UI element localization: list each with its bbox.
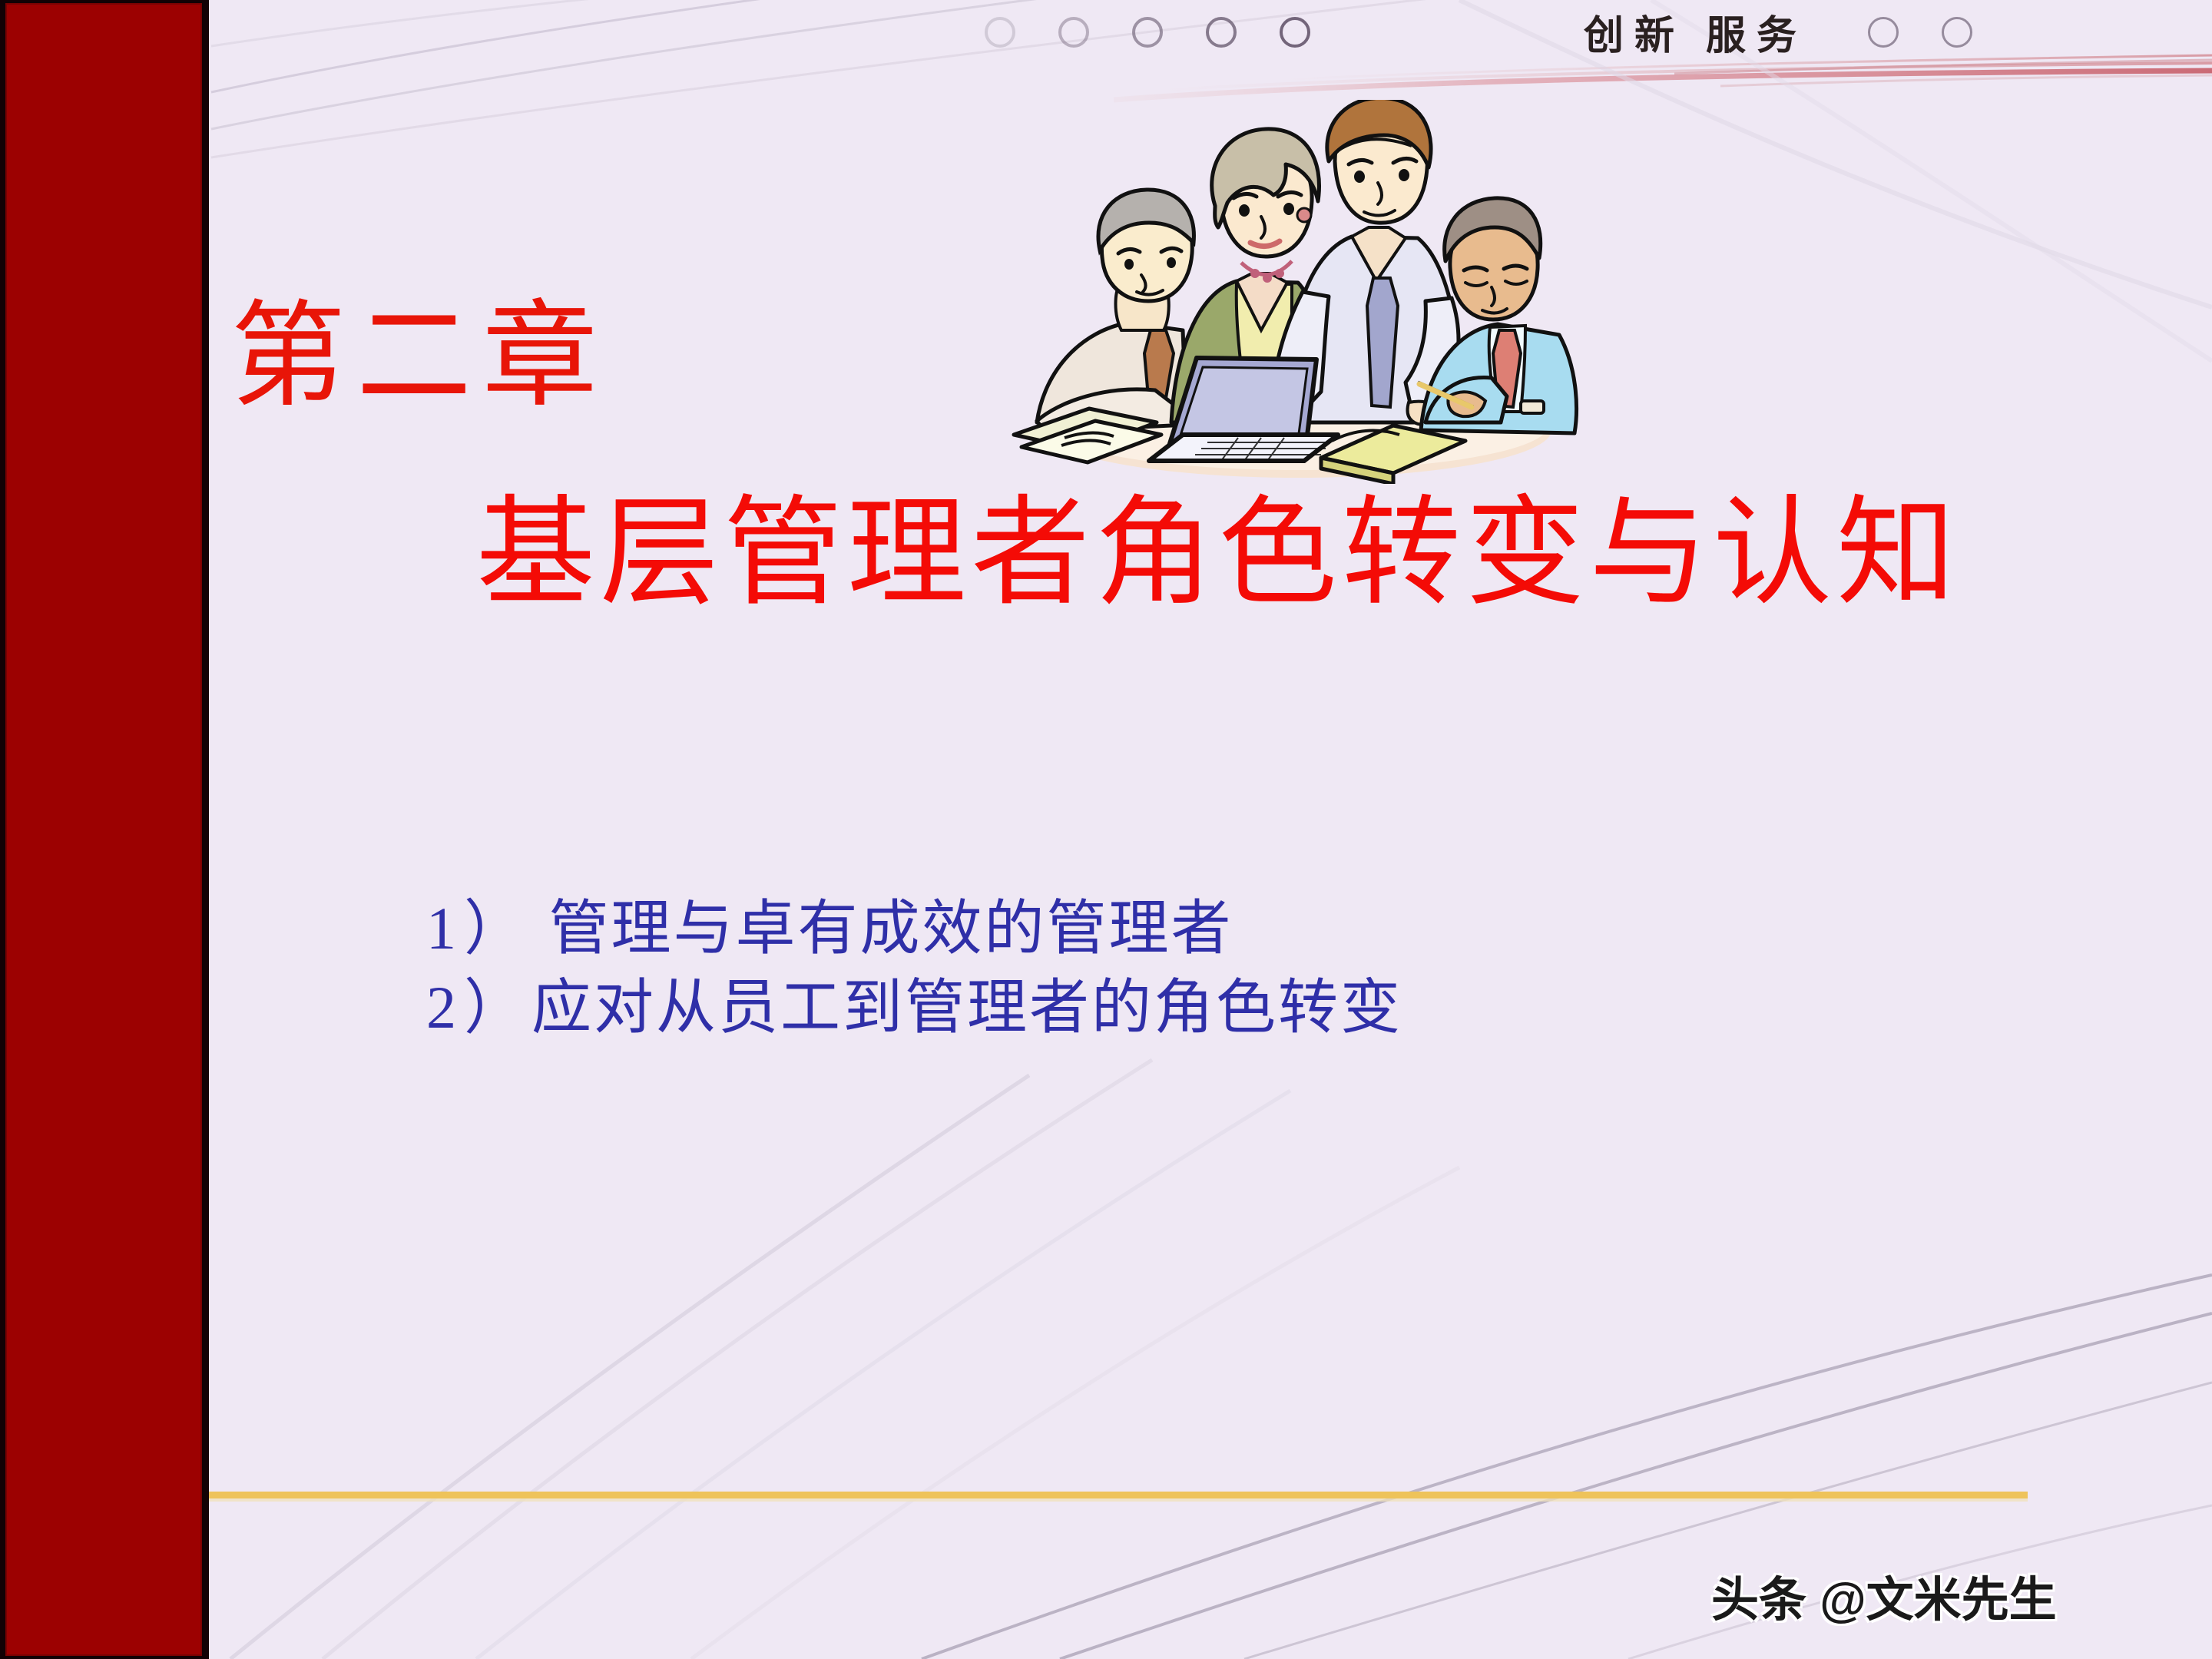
footer-divider bbox=[209, 1492, 2028, 1498]
list-item-label: 应对从员工到管理者的角色转变 bbox=[531, 974, 1402, 1041]
header-slogan: 创新 服务 bbox=[1584, 3, 1807, 61]
footer-divider-shade bbox=[209, 1498, 2028, 1502]
list-item-number: 1） bbox=[426, 895, 531, 962]
slide-title: 基层管理者角色转变与认知 bbox=[476, 492, 1960, 617]
left-accent-bar bbox=[5, 3, 202, 1656]
list-item: 1） 管理与卓有成效的管理者 bbox=[426, 889, 1402, 969]
list-item: 2）应对从员工到管理者的角色转变 bbox=[426, 969, 1402, 1048]
circle-icon bbox=[1280, 17, 1310, 48]
bullet-list: 1） 管理与卓有成效的管理者 2）应对从员工到管理者的角色转变 bbox=[426, 889, 1402, 1048]
header-circle-group-left bbox=[985, 17, 1310, 48]
chapter-label: 第二章 bbox=[230, 300, 608, 415]
watermark: 头条 @文米先生 bbox=[1711, 1561, 2057, 1630]
circle-icon bbox=[985, 17, 1015, 48]
presentation-slide: 创新 服务 bbox=[0, 0, 2212, 1659]
list-item-label: 管理与卓有成效的管理者 bbox=[531, 895, 1233, 962]
circle-icon bbox=[1868, 17, 1899, 48]
circle-icon bbox=[1206, 17, 1237, 48]
circle-icon bbox=[1132, 17, 1163, 48]
left-accent-bar-frame bbox=[0, 0, 209, 1659]
circle-icon bbox=[1058, 17, 1089, 48]
slide-header: 创新 服务 bbox=[209, 0, 2212, 100]
circle-icon bbox=[1942, 17, 1972, 48]
list-item-number: 2） bbox=[426, 974, 531, 1041]
business-team-meeting-clipart bbox=[991, 100, 1598, 484]
header-circle-group-right bbox=[1868, 17, 1972, 48]
